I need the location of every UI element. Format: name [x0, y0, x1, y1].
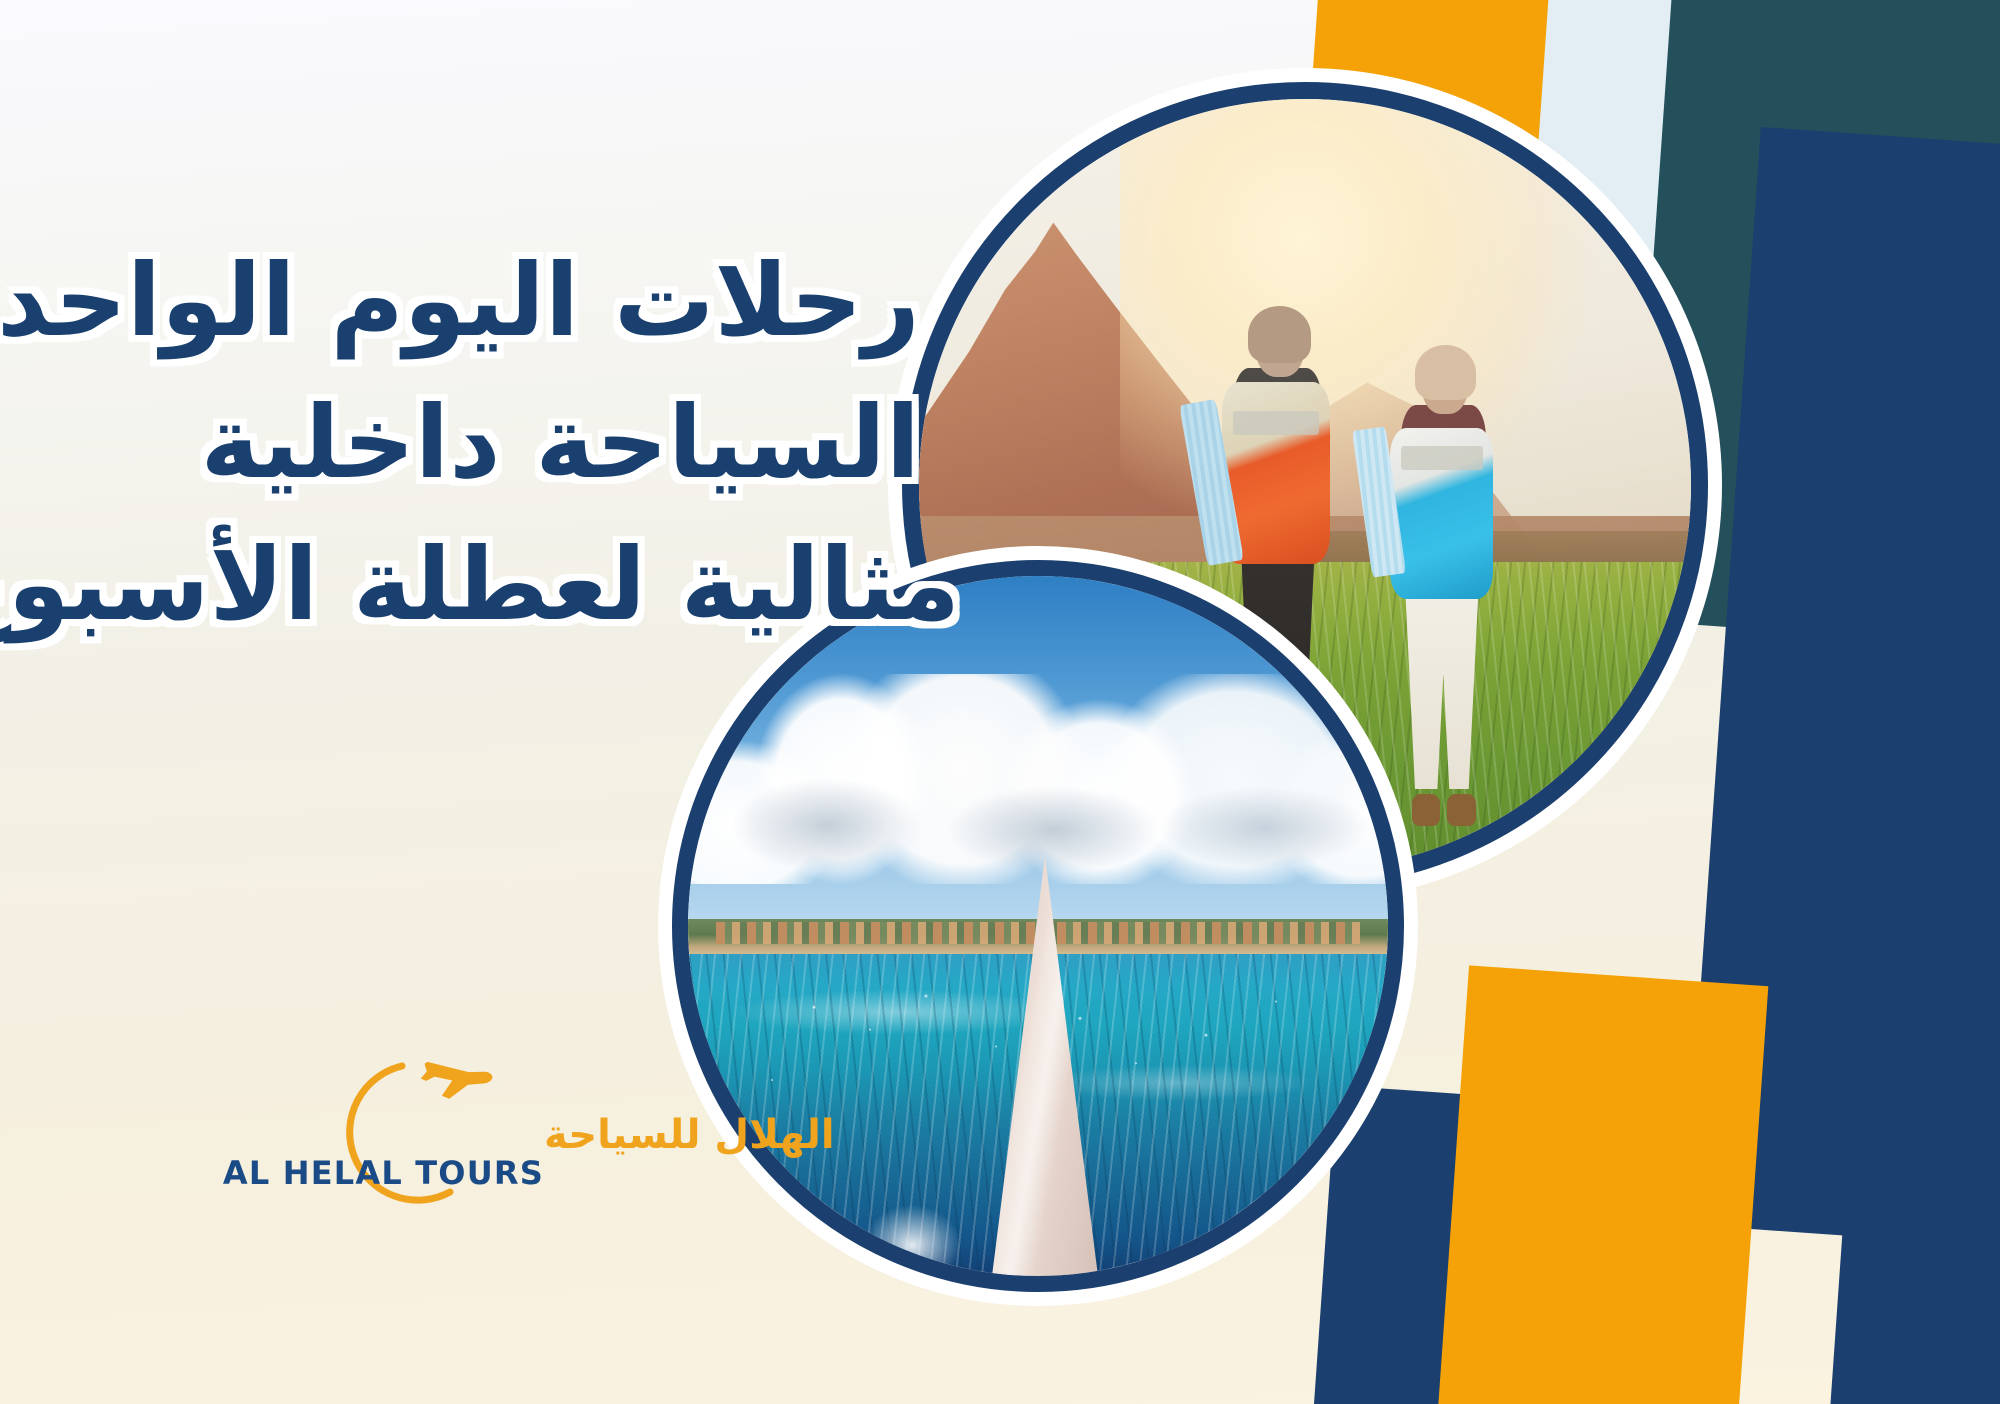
headline: رحلات اليوم الواحد السياحة داخلية مثالية… — [60, 230, 920, 656]
hiker-right-strap — [1401, 446, 1483, 469]
hiker-left-strap — [1233, 411, 1318, 435]
hiker-right-legs — [1405, 576, 1480, 789]
logo-english-name: AL HELAL TOURS — [223, 1154, 544, 1192]
logo-arabic-name: الهلال للسياحة — [544, 1112, 835, 1158]
hiker-right-hood — [1415, 345, 1475, 401]
brand-logo[interactable]: الهلال للسياحة AL HELAL TOURS — [282, 1032, 552, 1232]
sea-cloud-shadow — [688, 758, 1388, 870]
sea-photo — [688, 576, 1388, 1276]
airplane-icon — [416, 1049, 494, 1111]
hiker-right-boot — [1412, 794, 1440, 826]
decor-band-orange-bottom — [1430, 965, 1768, 1404]
headline-line-1: رحلات اليوم الواحد — [60, 230, 920, 372]
hiker-left-hood — [1248, 306, 1311, 363]
sea-foam — [856, 1178, 968, 1276]
hiker-right-boot-2 — [1447, 794, 1475, 826]
promo-poster: رحلات اليوم الواحد السياحة داخلية مثالية… — [0, 0, 2000, 1404]
headline-line-2: السياحة داخلية — [60, 372, 920, 514]
headline-line-3: مثالية لعطلة الأسبوع — [60, 514, 960, 656]
